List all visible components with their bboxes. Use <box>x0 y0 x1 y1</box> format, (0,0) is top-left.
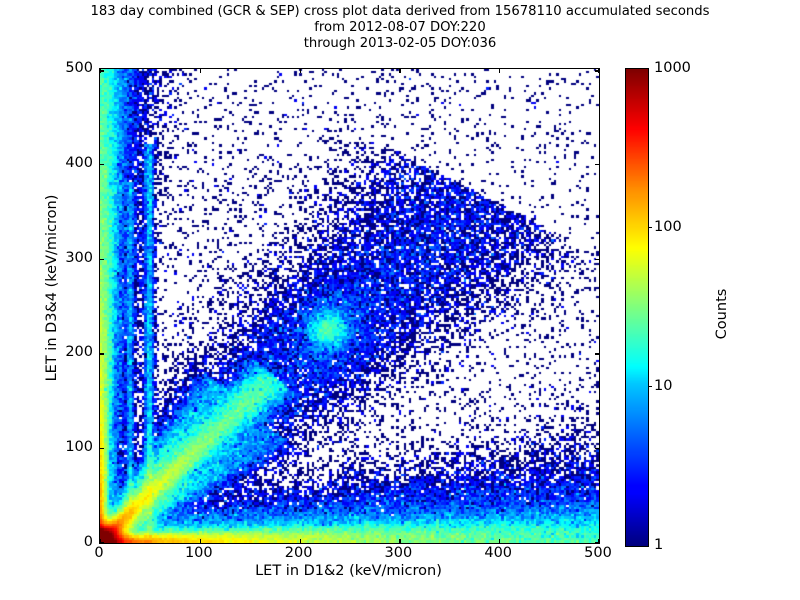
colorbar-tick-mark <box>648 227 652 228</box>
y-tick-mark <box>595 353 599 354</box>
x-tick-mark <box>499 539 500 543</box>
x-tick-mark <box>300 69 301 73</box>
x-tick-label: 0 <box>94 545 103 561</box>
x-tick-label: 100 <box>185 545 213 561</box>
figure-canvas: 183 day combined (GCR & SEP) cross plot … <box>0 0 800 600</box>
colorbar-tick-label: 1 <box>654 537 663 553</box>
x-tick-mark <box>200 539 201 543</box>
x-tick-mark <box>399 539 400 543</box>
y-tick-mark <box>100 542 104 543</box>
y-tick-label: 300 <box>65 250 93 266</box>
x-tick-label: 400 <box>484 545 512 561</box>
y-tick-label: 500 <box>65 60 93 76</box>
y-tick-mark <box>595 164 599 165</box>
x-tick-mark <box>300 539 301 543</box>
y-tick-mark <box>595 542 599 543</box>
colorbar-tick-label: 100 <box>654 219 682 235</box>
y-tick-mark <box>100 70 104 71</box>
y-tick-mark <box>595 259 599 260</box>
y-tick-mark <box>100 259 104 260</box>
y-tick-mark <box>100 164 104 165</box>
x-tick-mark <box>499 69 500 73</box>
x-tick-mark <box>200 69 201 73</box>
y-tick-label: 100 <box>65 439 93 455</box>
y-tick-mark <box>100 353 104 354</box>
scatter-heatmap <box>100 69 599 543</box>
y-tick-mark <box>595 70 599 71</box>
x-tick-label: 200 <box>285 545 313 561</box>
colorbar-title: Counts <box>714 234 730 394</box>
colorbar-tick-label: 1000 <box>654 60 691 76</box>
x-tick-label: 500 <box>584 545 612 561</box>
x-tick-label: 300 <box>385 545 413 561</box>
y-tick-label: 400 <box>65 155 93 171</box>
title-line-1: 183 day combined (GCR & SEP) cross plot … <box>0 4 800 20</box>
x-axis-label: LET in D1&2 (keV/micron) <box>99 563 598 579</box>
title-line-2: from 2012-08-07 DOY:220 <box>0 20 800 36</box>
y-tick-label: 200 <box>65 344 93 360</box>
title-line-3: through 2013-02-05 DOY:036 <box>0 36 800 52</box>
colorbar[interactable] <box>625 68 649 547</box>
y-tick-label: 0 <box>84 534 93 550</box>
colorbar-tick-label: 10 <box>654 378 672 394</box>
y-tick-mark <box>595 448 599 449</box>
y-tick-mark <box>100 448 104 449</box>
chart-title: 183 day combined (GCR & SEP) cross plot … <box>0 4 800 52</box>
y-axis-label: LET in D3&4 (keV/micron) <box>44 128 60 448</box>
plot-area[interactable] <box>99 68 600 544</box>
colorbar-gradient <box>626 69 648 546</box>
colorbar-tick-mark <box>648 386 652 387</box>
x-tick-mark <box>399 69 400 73</box>
